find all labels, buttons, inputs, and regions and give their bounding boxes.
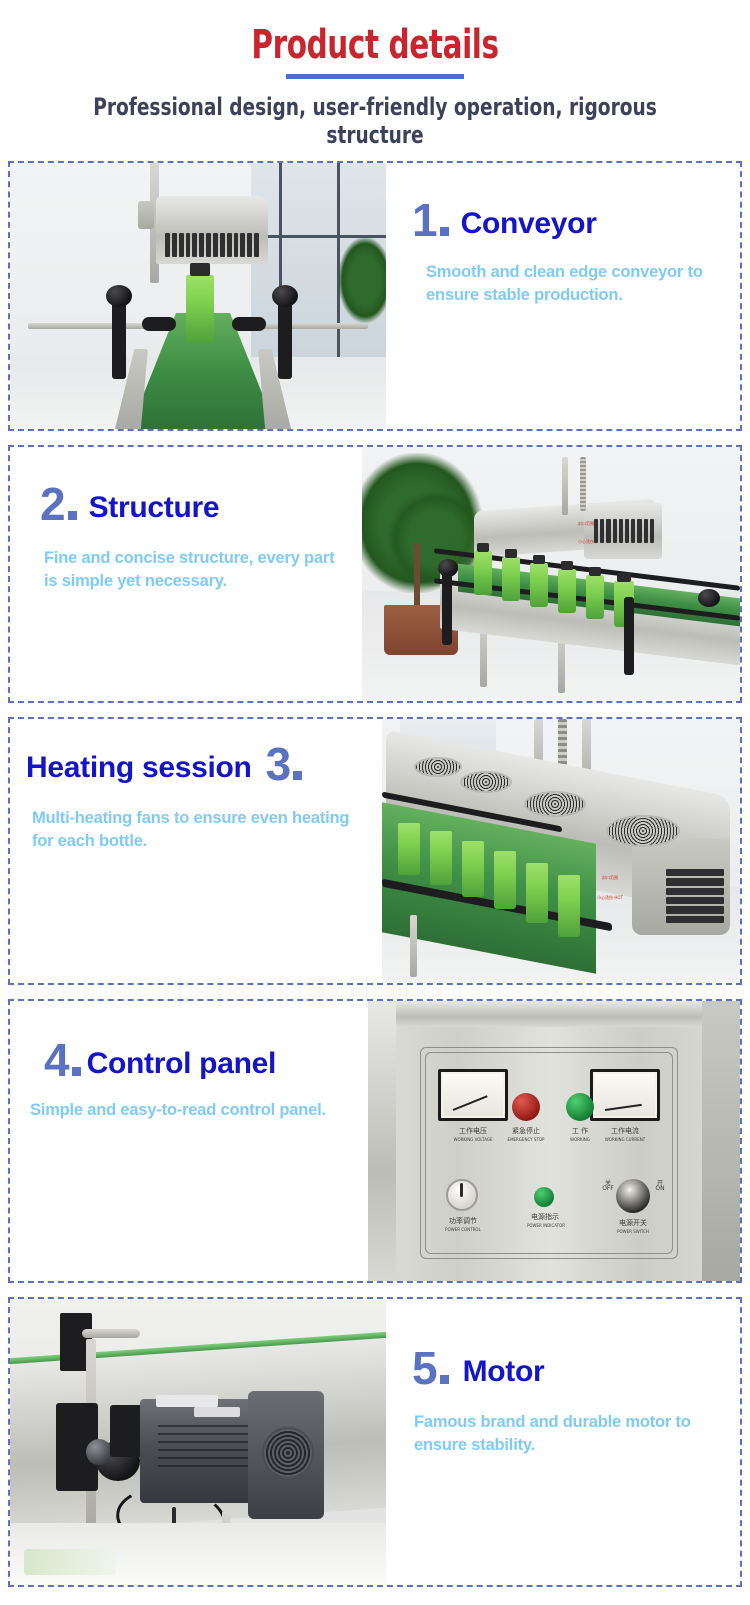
number-square-period [72, 1067, 81, 1076]
section-conveyor-image [10, 163, 386, 429]
section-motor: 5 Motor Famous brand and durable motor t… [8, 1297, 742, 1587]
number-square-period [68, 511, 77, 520]
section-number-1: 1 [412, 197, 449, 243]
section-control-panel: 工作电压 WORKING VOLTAGE 工作电流 WORKING CURREN… [8, 999, 742, 1283]
page-subtitle: Professional design, user-friendly opera… [53, 93, 698, 149]
section-number-2: 2 [40, 481, 77, 527]
section-structure-image: 封口范围 小心烫伤 [362, 447, 740, 701]
section-structure-text: 2 Structure Fine and concise structure, … [10, 447, 362, 701]
title-underline-rule [286, 74, 464, 79]
product-details-page: Product details Professional design, use… [0, 0, 750, 1605]
section-control-panel-image: 工作电压 WORKING VOLTAGE 工作电流 WORKING CURREN… [368, 1001, 740, 1281]
section-heating: 封口范围 小心烫伤 HOT Heating sessi [8, 717, 742, 985]
section-title-motor: Motor [463, 1353, 545, 1391]
number-square-period [293, 771, 302, 780]
section-description-control-panel: Simple and easy-to-read control panel. [30, 1099, 360, 1122]
section-title-control-panel: Control panel [87, 1045, 276, 1083]
section-motor-image [10, 1299, 386, 1585]
page-title: Product details [68, 22, 683, 68]
section-number-5: 5 [412, 1345, 449, 1391]
section-heating-image: 封口范围 小心烫伤 HOT [382, 719, 740, 983]
section-title-structure: Structure [89, 489, 220, 527]
section-description-motor: Famous brand and durable motor to ensure… [414, 1411, 720, 1457]
section-conveyor: 1 Conveyor Smooth and clean edge conveyo… [8, 161, 742, 431]
section-title-heating: Heating session [26, 749, 252, 787]
section-heating-text: Heating session 3 Multi-heating fans to … [10, 719, 382, 983]
section-number-4: 4 [44, 1037, 81, 1083]
number-square-period [440, 227, 449, 236]
page-header: Product details Professional design, use… [0, 0, 750, 149]
section-structure: 封口范围 小心烫伤 [8, 445, 742, 703]
section-description-structure: Fine and concise structure, every part i… [44, 547, 338, 593]
section-description-conveyor: Smooth and clean edge conveyor to ensure… [426, 261, 716, 307]
number-square-period [440, 1375, 449, 1384]
section-motor-text: 5 Motor Famous brand and durable motor t… [386, 1299, 740, 1585]
section-conveyor-text: 1 Conveyor Smooth and clean edge conveyo… [386, 163, 740, 429]
section-number-3: 3 [266, 741, 303, 787]
sections-list: 1 Conveyor Smooth and clean edge conveyo… [0, 161, 750, 1587]
section-description-heating: Multi-heating fans to ensure even heatin… [32, 807, 368, 853]
section-control-panel-text: 4 Control panel Simple and easy-to-read … [10, 1001, 368, 1281]
section-title-conveyor: Conveyor [461, 205, 597, 243]
